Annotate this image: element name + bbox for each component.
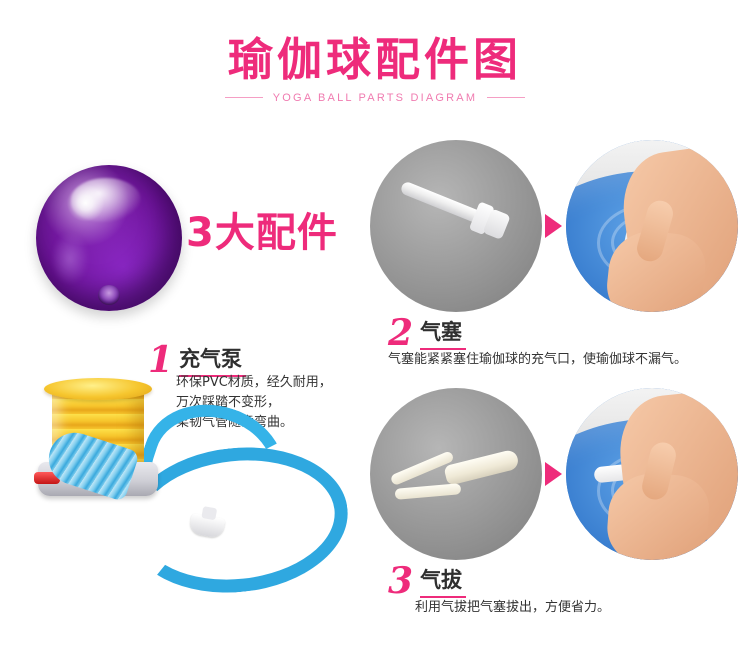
puller-prong-bottom <box>395 483 462 500</box>
three-parts-headline: 3大配件 <box>186 200 338 258</box>
subtitle-rule-left <box>225 97 263 98</box>
arrow-right-icon-item2 <box>545 214 562 238</box>
plug-shaft <box>399 180 484 224</box>
item-1-label: 1 充气泵 <box>148 343 242 376</box>
title-block: 瑜伽球配件图 YOGA BALL PARTS DIAGRAM <box>0 34 750 104</box>
item-3-description: 利用气拔把气塞拔出，方便省力。 <box>415 598 610 618</box>
ball-secondary-highlight <box>51 232 89 285</box>
air-puller-in-use-photo-panel <box>566 388 738 560</box>
plug-in-use-photo-panel <box>566 140 738 312</box>
page-subtitle: YOGA BALL PARTS DIAGRAM <box>273 92 477 104</box>
item-2-number: 2 <box>388 317 413 349</box>
foot-pump-image <box>30 378 330 568</box>
ball-highlight <box>71 178 141 222</box>
plug-photo-panel <box>370 140 542 312</box>
air-plug-image <box>396 172 511 242</box>
arrow-right-icon-item3 <box>545 462 562 486</box>
item-2-name: 气塞 <box>420 316 462 349</box>
page-title: 瑜伽球配件图 <box>0 34 750 86</box>
ball-valve <box>98 285 120 305</box>
item-1-name: 充气泵 <box>179 343 242 376</box>
subtitle-rule-right <box>487 97 525 98</box>
item-3-label: 3 气拔 <box>388 564 462 597</box>
pump-pedal <box>44 378 152 400</box>
puller-handle <box>443 449 520 486</box>
air-puller-image <box>385 433 525 519</box>
yoga-ball-parts-infographic: 瑜伽球配件图 YOGA BALL PARTS DIAGRAM 3大配件 1 充气… <box>0 0 750 656</box>
air-puller-photo-panel <box>370 388 542 560</box>
item-1-number: 1 <box>148 344 173 376</box>
item-2-label: 2 气塞 <box>388 316 462 349</box>
yoga-ball-image <box>36 165 182 311</box>
item-3-name: 气拔 <box>420 564 462 597</box>
item-3-number: 3 <box>388 565 413 597</box>
item-2-description: 气塞能紧紧塞住瑜伽球的充气口，使瑜伽球不漏气。 <box>388 350 687 370</box>
subtitle-row: YOGA BALL PARTS DIAGRAM <box>0 92 750 104</box>
